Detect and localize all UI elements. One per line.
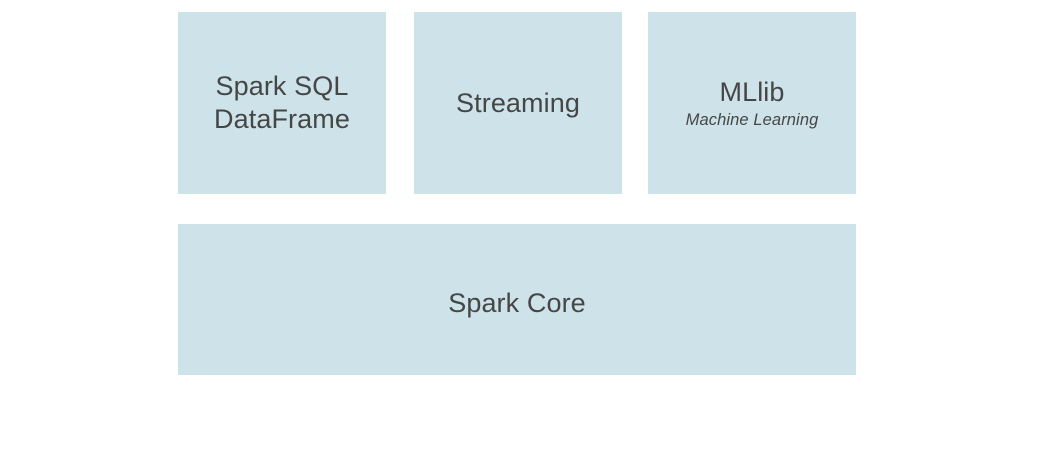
diagram-box-spark-sql[interactable]: Spark SQL DataFrame xyxy=(178,12,386,194)
diagram-box-spark-core[interactable]: Spark Core xyxy=(178,224,856,375)
diagram-box-title: Spark SQL DataFrame xyxy=(214,70,350,136)
diagram-box-title: Streaming xyxy=(456,87,580,120)
diagram-box-title: Spark Core xyxy=(448,287,586,320)
diagram-box-subtitle: Machine Learning xyxy=(686,110,819,130)
diagram-box-streaming[interactable]: Streaming xyxy=(414,12,622,194)
spark-stack-diagram: Spark SQL DataFrame Streaming MLlib Mach… xyxy=(0,0,1053,457)
diagram-box-mllib[interactable]: MLlib Machine Learning xyxy=(648,12,856,194)
diagram-box-title: MLlib xyxy=(719,76,784,109)
